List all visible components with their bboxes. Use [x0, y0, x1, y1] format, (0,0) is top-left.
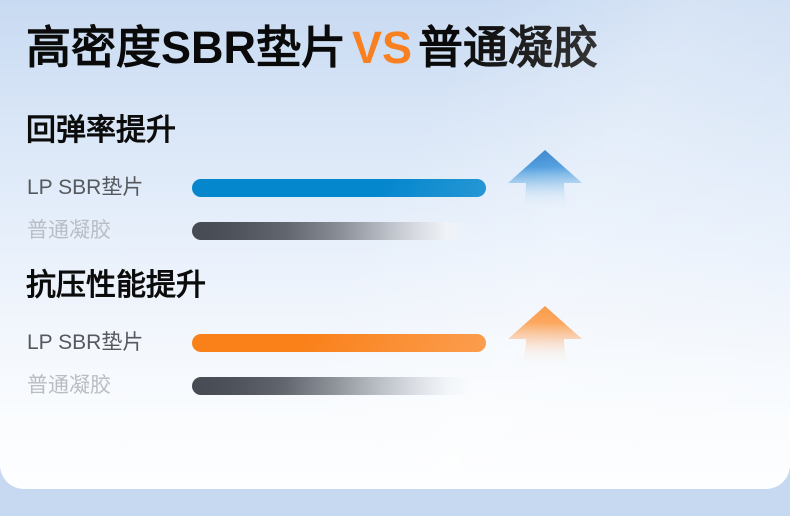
bar-sbr-compression [192, 334, 486, 352]
up-arrow-icon-blue [507, 148, 583, 212]
bar-label-gel-compression: 普通凝胶 [27, 373, 177, 399]
page-title: 高密度SBR垫片VS普通凝胶 [26, 22, 598, 74]
content-card: 高密度SBR垫片VS普通凝胶 回弹率提升 LP SBR垫片 普通凝胶 抗压性能提… [0, 0, 790, 489]
bar-label-sbr-rebound: LP SBR垫片 [27, 175, 177, 201]
promo-poster: 高密度SBR垫片VS普通凝胶 回弹率提升 LP SBR垫片 普通凝胶 抗压性能提… [0, 0, 790, 516]
bar-gel-rebound [192, 222, 469, 240]
bar-gel-compression [192, 377, 469, 395]
headline-part-1: 高密度SBR垫片 [26, 22, 346, 73]
up-arrow-icon-orange [507, 304, 583, 368]
bar-sbr-rebound [192, 179, 486, 197]
bar-row-sbr-rebound: LP SBR垫片 [0, 175, 790, 201]
bar-label-gel-rebound: 普通凝胶 [27, 218, 177, 244]
headline-part-2: 普通凝胶 [418, 22, 598, 73]
bar-row-sbr-compression: LP SBR垫片 [0, 330, 790, 356]
bar-row-gel-compression: 普通凝胶 [0, 373, 790, 399]
section-title-compression: 抗压性能提升 [26, 268, 206, 304]
bar-row-gel-rebound: 普通凝胶 [0, 218, 790, 244]
bar-label-sbr-compression: LP SBR垫片 [27, 330, 177, 356]
section-title-rebound: 回弹率提升 [26, 113, 176, 149]
headline-vs: VS [346, 22, 418, 73]
